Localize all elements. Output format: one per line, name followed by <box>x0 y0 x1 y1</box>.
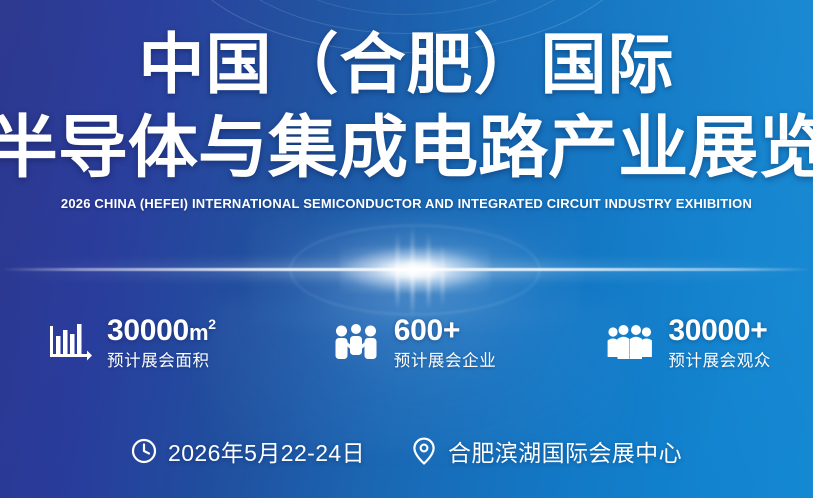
stat-unit: m <box>189 320 208 345</box>
stat-number: 30000 <box>107 314 189 347</box>
crowd-audience-icon <box>605 320 655 366</box>
event-venue: 合肥滨湖国际会展中心 <box>411 434 682 468</box>
stat-item-area: 30000m2 预计展会面积 <box>44 316 216 370</box>
title-english-subtitle: 2026 CHINA (HEFEI) INTERNATIONAL SEMICON… <box>6 195 807 213</box>
stat-label-companies: 预计展会企业 <box>394 353 497 370</box>
stat-number: 30000+ <box>668 314 767 347</box>
stat-text-area: 30000m2 预计展会面积 <box>107 316 216 370</box>
statistics-row: 30000m2 预计展会面积 6 <box>44 316 779 370</box>
title-block: 中国（合肥）国际 半导体与集成电路产业展览会 2026 CHINA (HEFEI… <box>0 22 813 213</box>
stat-value-visitors: 30000+ <box>668 314 767 347</box>
stat-number: 600+ <box>394 314 460 347</box>
stat-label-visitors: 预计展会观众 <box>668 353 771 370</box>
stat-text-visitors: 30000+ 预计展会观众 <box>668 316 771 370</box>
event-venue-text: 合肥滨湖国际会展中心 <box>448 434 682 468</box>
clock-icon <box>131 438 157 464</box>
stat-item-visitors: 30000+ 预计展会观众 <box>605 316 771 370</box>
title-line-2: 半导体与集成电路产业展览会 <box>0 106 813 190</box>
stat-value-companies: 600+ <box>394 314 460 347</box>
exhibition-banner: 中国（合肥）国际 半导体与集成电路产业展览会 2026 CHINA (HEFEI… <box>0 0 813 498</box>
bar-chart-growth-icon <box>44 320 94 366</box>
stat-text-companies: 600+ 预计展会企业 <box>394 316 497 370</box>
event-meta-row: 2026年5月22-24日 合肥滨湖国际会展中心 <box>0 434 813 468</box>
stat-item-companies: 600+ 预计展会企业 <box>331 316 497 370</box>
banner-content: 中国（合肥）国际 半导体与集成电路产业展览会 2026 CHINA (HEFEI… <box>0 0 813 498</box>
title-line-1: 中国（合肥）国际 <box>0 22 813 106</box>
event-date-text: 2026年5月22-24日 <box>168 434 365 468</box>
event-date: 2026年5月22-24日 <box>131 434 365 468</box>
stat-label-area: 预计展会面积 <box>107 353 216 370</box>
stat-value-area: 30000m2 <box>107 314 216 347</box>
location-pin-icon <box>411 438 437 464</box>
stat-unit-superscript: 2 <box>208 316 216 332</box>
people-group-icon <box>331 320 381 366</box>
